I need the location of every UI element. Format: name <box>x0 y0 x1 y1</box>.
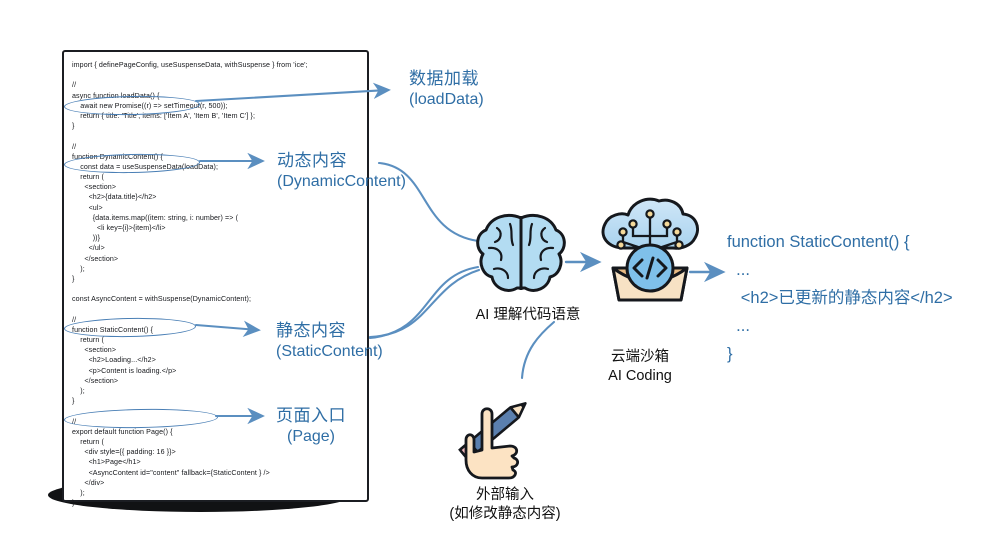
code-line: </div> <box>72 478 361 488</box>
code-line: </ul> <box>72 243 361 253</box>
code-line: <h2>{data.title}</h2> <box>72 192 361 202</box>
code-line: <h1>Page</h1> <box>72 457 361 467</box>
code-line: <li key={i}>{item}</li> <box>72 223 361 233</box>
hand-caption-line1: 外部输入 <box>476 487 534 503</box>
cloud-caption-line2: AI Coding <box>575 367 705 386</box>
output-code-line: <h2>已更新的静态内容</h2> <box>727 284 953 312</box>
annotation-static-content: 静态内容 (StaticContent) <box>276 320 383 362</box>
code-line <box>72 305 361 315</box>
annotation-load-data: 数据加载 (loadData) <box>409 68 484 110</box>
annotation-static-content-en: (StaticContent) <box>276 341 383 362</box>
annotation-page-entry: 页面入口 (Page) <box>276 405 346 447</box>
annotation-load-data-cn: 数据加载 <box>409 68 484 89</box>
code-line: } <box>72 121 361 131</box>
annotation-dynamic-content: 动态内容 (DynamicContent) <box>277 150 406 192</box>
cloud-caption: 云端沙箱 AI Coding <box>575 348 705 386</box>
code-line: } <box>72 274 361 284</box>
output-code-line: ... <box>727 256 953 284</box>
annotation-page-entry-cn: 页面入口 <box>276 405 346 426</box>
curve-page-to-brain <box>370 270 479 337</box>
annotation-dynamic-content-cn: 动态内容 <box>277 150 406 171</box>
code-line: import { definePageConfig, useSuspenseDa… <box>72 60 361 70</box>
cloud-code-icon <box>603 199 697 300</box>
code-line: ))} <box>72 233 361 243</box>
annotation-page-entry-en: (Page) <box>276 426 346 447</box>
brain-icon <box>478 215 565 290</box>
hand-caption: 外部输入 (如修改静态内容) <box>405 486 605 524</box>
code-line <box>72 284 361 294</box>
code-line: <AsyncContent id="content" fallback={Sta… <box>72 468 361 478</box>
code-line: </section> <box>72 376 361 386</box>
code-line <box>72 131 361 141</box>
code-line: const AsyncContent = withSuspense(Dynami… <box>72 294 361 304</box>
code-line: </section> <box>72 254 361 264</box>
updated-static-content-code: function StaticContent() { ... <h2>已更新的静… <box>727 228 953 368</box>
output-code-line: } <box>727 340 953 368</box>
output-code-line: ... <box>727 312 953 340</box>
output-code-line: function StaticContent() { <box>727 228 953 256</box>
brain-caption: AI 理解代码语意 <box>443 306 613 325</box>
code-line: <p>Content is loading.</p> <box>72 366 361 376</box>
code-line: <div style={{ padding: 16 }}> <box>72 447 361 457</box>
hand-pencil-icon <box>460 398 530 478</box>
annotation-load-data-en: (loadData) <box>409 89 484 110</box>
code-line: ); <box>72 488 361 498</box>
code-line: } <box>72 498 361 508</box>
annotation-dynamic-content-en: (DynamicContent) <box>277 171 406 192</box>
code-line: <ul> <box>72 203 361 213</box>
curve-dynamic-to-brain <box>370 267 478 338</box>
brain-caption-text: AI 理解代码语意 <box>476 307 581 323</box>
code-line: {data.items.map((item: string, i: number… <box>72 213 361 223</box>
diagram-canvas: import { definePageConfig, useSuspenseDa… <box>0 0 1000 558</box>
cloud-caption-line1: 云端沙箱 <box>611 349 669 365</box>
code-line: // <box>72 80 361 90</box>
code-line <box>72 70 361 80</box>
hand-caption-line2: (如修改静态内容) <box>405 505 605 524</box>
curve-hand-to-cloud <box>522 322 554 378</box>
code-line: ); <box>72 264 361 274</box>
annotation-static-content-cn: 静态内容 <box>276 320 383 341</box>
code-line: ); <box>72 386 361 396</box>
